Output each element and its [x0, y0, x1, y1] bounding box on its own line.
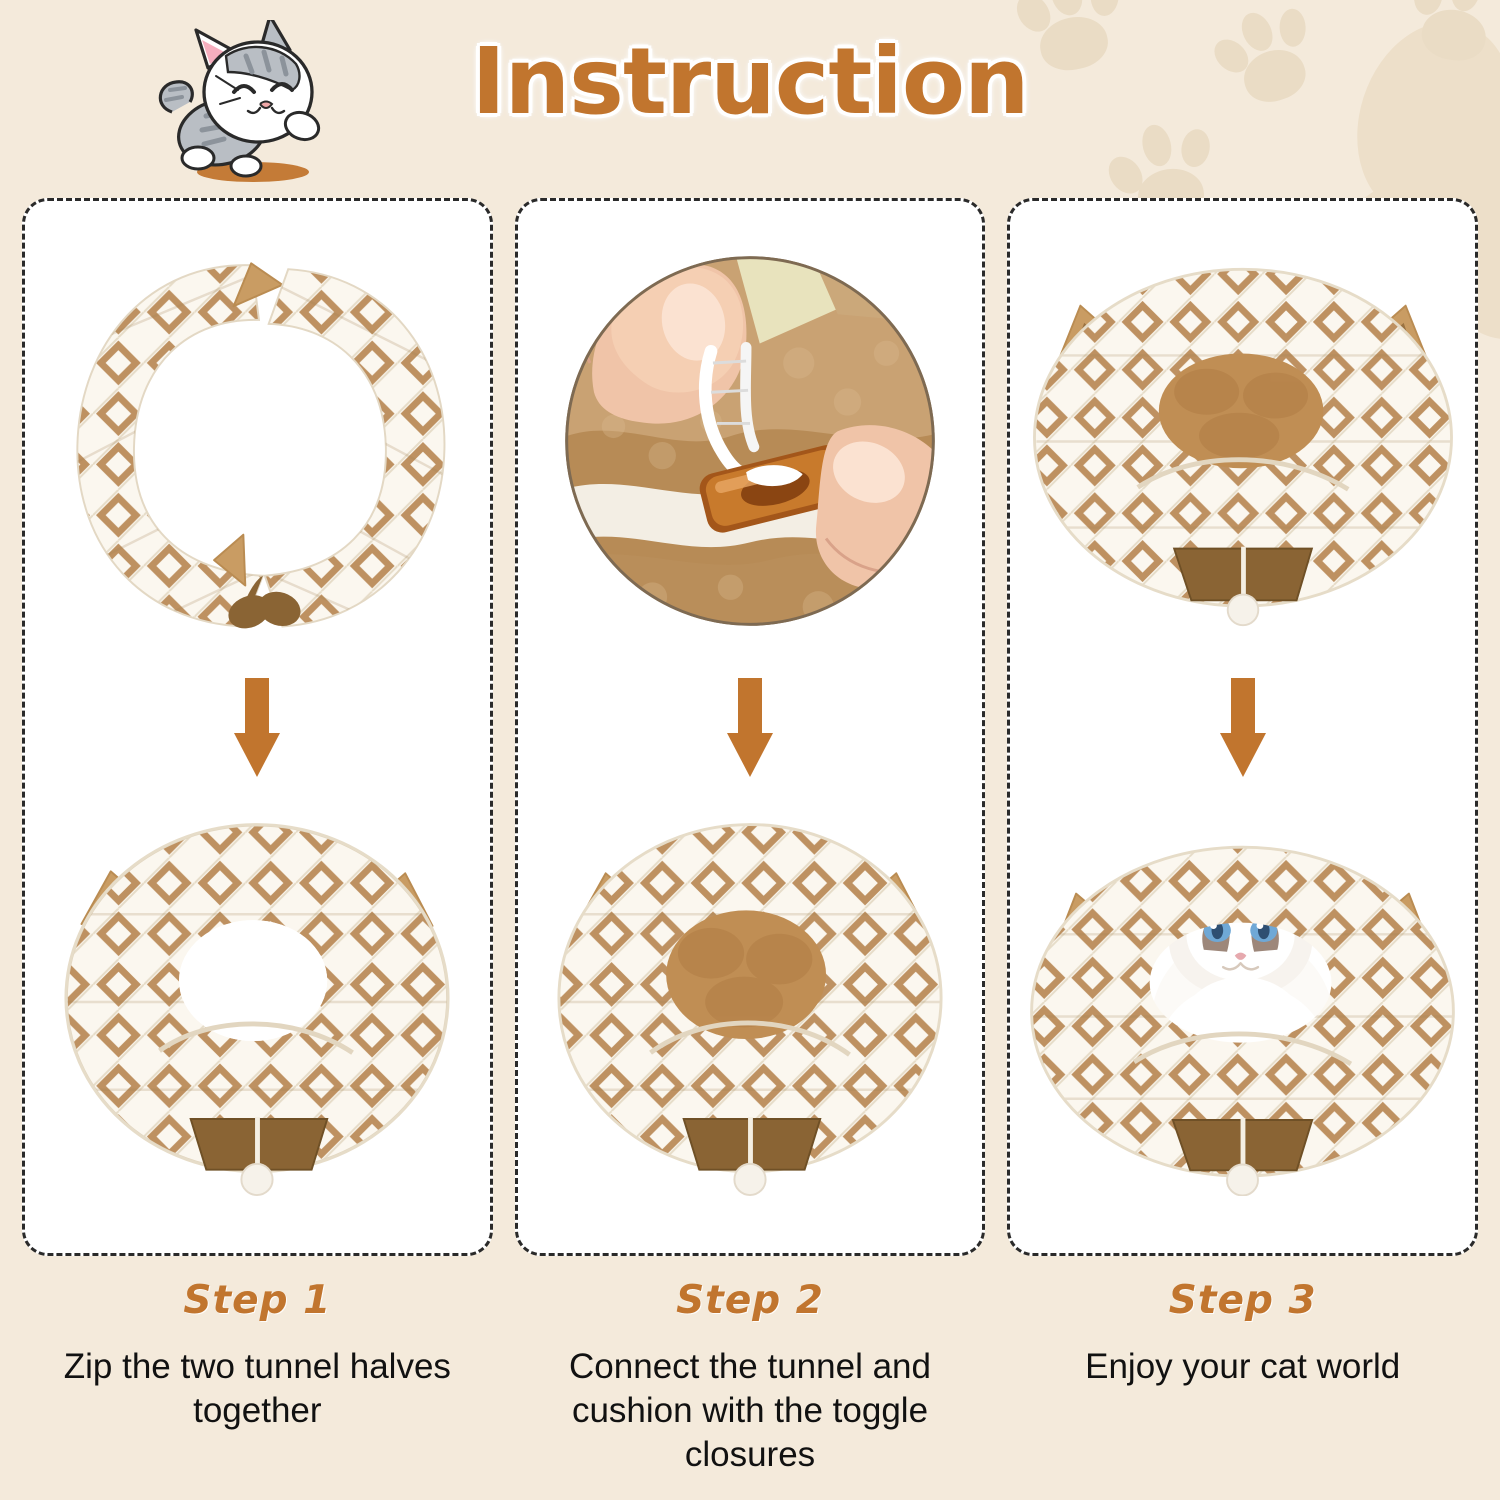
step1-top-image: [31, 215, 484, 667]
step-description-2: Connect the tunnel and cushion with the …: [515, 1345, 986, 1477]
step-panel-1: [22, 198, 493, 1256]
jumping-cat-mascot-icon: [150, 20, 350, 185]
step3-top-image: [1016, 215, 1469, 667]
step-description-3: Enjoy your cat world: [1007, 1345, 1478, 1389]
step2-arrow: [727, 667, 773, 787]
step-caption-1: Step 1 Zip the two tunnel halves togethe…: [22, 1272, 493, 1482]
steps-panel-row: [22, 198, 1478, 1256]
step-label-2: Step 2: [515, 1278, 986, 1323]
step2-top-image: [524, 215, 977, 667]
step-label-3: Step 3: [1007, 1278, 1478, 1323]
step1-bottom-image: [31, 787, 484, 1217]
step-caption-3: Step 3 Enjoy your cat world: [1007, 1272, 1478, 1482]
step-panel-2: [515, 198, 986, 1256]
step2-bottom-image: [524, 787, 977, 1217]
step3-arrow: [1220, 667, 1266, 787]
step-caption-2: Step 2 Connect the tunnel and cushion wi…: [515, 1272, 986, 1482]
down-arrow-icon: [234, 678, 280, 776]
down-arrow-icon: [1220, 678, 1266, 776]
step3-bottom-image: [1016, 787, 1469, 1217]
step-panel-3: [1007, 198, 1478, 1256]
step-label-1: Step 1: [22, 1278, 493, 1323]
page-header: Instruction: [0, 0, 1500, 190]
step1-arrow: [234, 667, 280, 787]
step-description-1: Zip the two tunnel halves together: [22, 1345, 493, 1433]
down-arrow-icon: [727, 678, 773, 776]
step-captions-row: Step 1 Zip the two tunnel halves togethe…: [22, 1272, 1478, 1482]
page-title: Instruction: [420, 28, 1080, 135]
